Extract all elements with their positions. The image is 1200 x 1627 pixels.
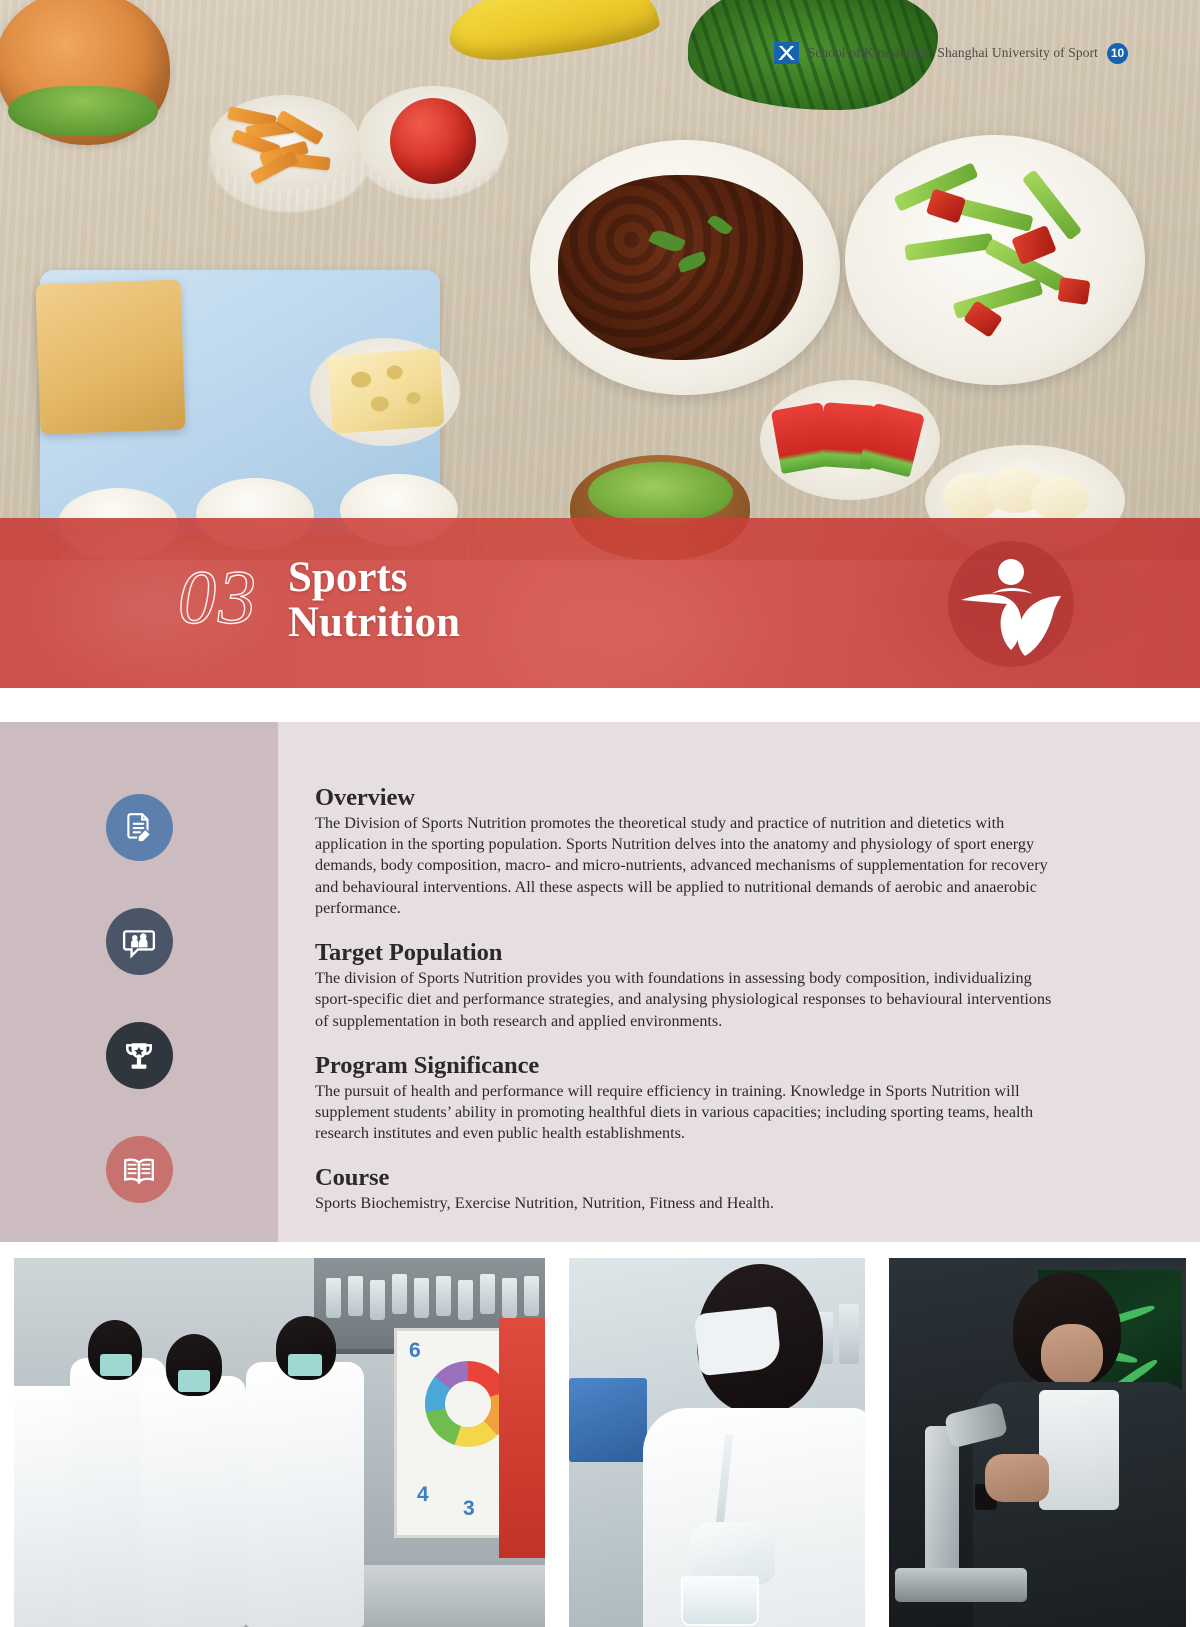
section-target-population: Target Population The division of Sports… xyxy=(315,939,1054,1032)
section-banner: 03 Sports Nutrition xyxy=(0,518,1200,688)
sus-emblem-icon xyxy=(774,42,799,64)
section-program-significance: Program Significance The pursuit of heal… xyxy=(315,1052,1054,1145)
section-overview: Overview The Division of Sports Nutritio… xyxy=(315,784,1054,919)
icon-rail xyxy=(0,722,278,1242)
section-number: 03 xyxy=(178,560,258,636)
photo-microscope-researcher xyxy=(889,1258,1186,1627)
cheese-slice-food xyxy=(327,348,444,434)
document-pencil-icon xyxy=(106,794,173,861)
researcher-shirt xyxy=(1039,1390,1119,1510)
apple-food xyxy=(390,98,476,184)
speech-bubble-people-icon xyxy=(106,908,173,975)
carrot-sticks-plate xyxy=(210,95,360,190)
watermelon-plate xyxy=(760,380,940,500)
section-heading: Overview xyxy=(315,784,1054,812)
microscope-arm xyxy=(925,1426,959,1576)
board-number: 4 xyxy=(417,1483,429,1507)
section-body: The division of Sports Nutrition provide… xyxy=(315,968,1054,1032)
board-number: 6 xyxy=(409,1339,421,1363)
board-number: 3 xyxy=(463,1497,475,1521)
blue-tube-rack xyxy=(569,1378,647,1462)
header-title: School of Kinesiology, Shanghai Universi… xyxy=(808,45,1098,61)
microscope-eyepiece xyxy=(944,1401,1009,1448)
open-book-icon xyxy=(106,1136,173,1203)
face-mask-2 xyxy=(100,1354,132,1376)
researcher-hand xyxy=(985,1454,1049,1502)
section-heading: Target Population xyxy=(315,939,1054,967)
hero-food-photo xyxy=(0,0,1200,560)
gloved-hand xyxy=(689,1522,775,1584)
running-figure-logo xyxy=(945,538,1077,670)
researcher-face xyxy=(1041,1324,1103,1386)
microscope-base xyxy=(895,1568,1027,1602)
section-body: The Division of Sports Nutrition promote… xyxy=(315,813,1054,919)
microscope xyxy=(895,1408,1045,1626)
toast-bread-food xyxy=(35,280,185,435)
photo-nutrition-lab-group: 6 5 1 2 4 3 xyxy=(14,1258,545,1627)
content-panel: Overview The Division of Sports Nutritio… xyxy=(0,722,1200,1242)
section-body: Sports Biochemistry, Exercise Nutrition,… xyxy=(315,1193,1054,1214)
section-heading: Program Significance xyxy=(315,1052,1054,1080)
trophy-icon xyxy=(106,1022,173,1089)
lab-coat-4 xyxy=(246,1362,364,1627)
section-course: Course Sports Biochemistry, Exercise Nut… xyxy=(315,1164,1054,1214)
page-number-badge: 10 xyxy=(1107,43,1128,64)
photo-strip: 6 5 1 2 4 3 xyxy=(0,1258,1200,1627)
section-title: Sports Nutrition xyxy=(288,556,460,645)
salad-greens-food xyxy=(588,462,733,524)
asparagus-dish-plate xyxy=(845,135,1145,385)
burger-lettuce xyxy=(8,86,158,136)
section-body: The pursuit of health and performance wi… xyxy=(315,1081,1054,1145)
page-header: School of Kinesiology, Shanghai Universi… xyxy=(0,38,1200,68)
beaker xyxy=(681,1576,759,1626)
photo-pipetting-researcher xyxy=(569,1258,866,1627)
section-heading: Course xyxy=(315,1164,1054,1192)
lab-coat-3 xyxy=(142,1376,246,1627)
text-column: Overview The Division of Sports Nutritio… xyxy=(278,722,1200,1242)
instructor-mask xyxy=(288,1354,322,1376)
researcher-face-mask xyxy=(694,1306,782,1376)
face-mask-3 xyxy=(178,1370,210,1392)
section-title-line2: Nutrition xyxy=(288,601,460,646)
chinese-text-banner xyxy=(499,1318,545,1558)
braised-meat-food xyxy=(558,175,803,360)
section-title-line1: Sports xyxy=(288,556,460,601)
